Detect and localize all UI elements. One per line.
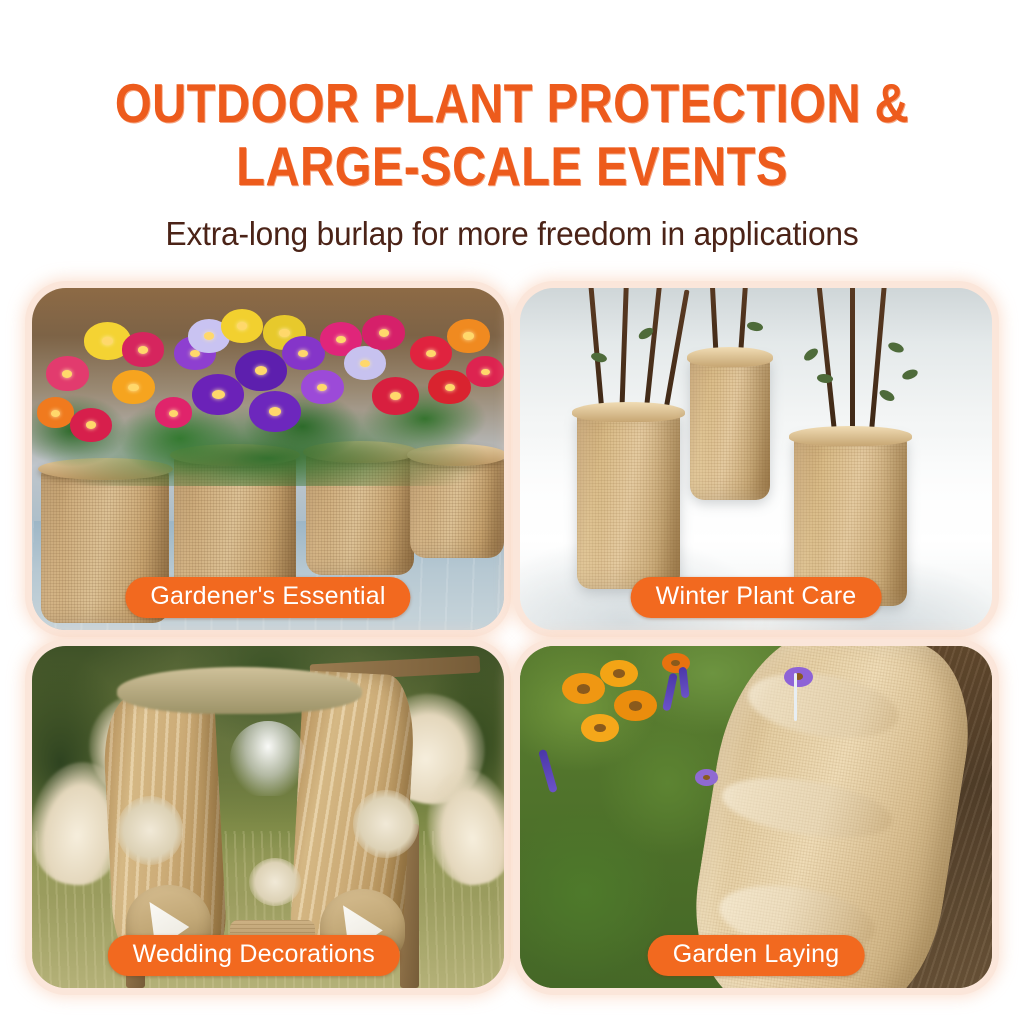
table-bouquet (249, 858, 301, 906)
fabric-fold (718, 768, 896, 848)
panel-badge-gardeners-essential[interactable]: Gardener's Essential (125, 577, 410, 618)
page-title-line-2: LARGE-SCALE EVENTS (72, 135, 953, 198)
page-title-line-1: OUTDOOR PLANT PROTECTION & (72, 72, 953, 135)
product-infographic: OUTDOOR PLANT PROTECTION & LARGE-SCALE E… (0, 0, 1024, 1024)
pansy-bloom (37, 397, 75, 428)
pansy-bloom (372, 377, 419, 415)
pansy-bloom (344, 346, 386, 380)
sapling-branch (850, 288, 855, 438)
pansy-bloom (46, 356, 88, 390)
panel-garden-laying[interactable]: Garden Laying (520, 646, 992, 988)
page-subtitle: Extra-long burlap for more freedom in ap… (20, 215, 1003, 253)
pansy-bloom (447, 319, 489, 353)
pansy-bloom (466, 356, 504, 387)
calendula-flower (562, 673, 604, 704)
pansy-bloom (221, 309, 263, 343)
pansy-bloom (70, 408, 112, 442)
panel-badge-winter-plant-care[interactable]: Winter Plant Care (631, 577, 882, 618)
dried-bouquet (117, 796, 183, 864)
pansy-bloom (112, 370, 154, 404)
burlap-sack (690, 356, 770, 500)
burlap-sack (577, 411, 681, 589)
pansy-bloom (282, 336, 324, 370)
dried-floral-garland (117, 667, 362, 715)
panel-gardeners-essential[interactable]: Gardener's Essential (32, 288, 504, 630)
pansy-bloom (362, 315, 404, 349)
crystal-chandelier (230, 721, 306, 796)
calendula-flower (614, 690, 656, 721)
panel-winter-plant-care[interactable]: Winter Plant Care (520, 288, 992, 630)
panel-badge-wedding-decorations[interactable]: Wedding Decorations (108, 935, 400, 976)
pansy-bloom (122, 332, 164, 366)
pansy-bloom (410, 336, 452, 370)
pansy-bloom (428, 370, 470, 404)
pansy-bloom (301, 370, 343, 404)
panel-wedding-decorations[interactable]: Wedding Decorations (32, 646, 504, 988)
fabric-fold (743, 664, 903, 748)
header: OUTDOOR PLANT PROTECTION & LARGE-SCALE E… (0, 0, 1024, 253)
calendula-flower (600, 660, 638, 687)
panel-badge-garden-laying[interactable]: Garden Laying (648, 935, 865, 976)
calendula-flower (581, 714, 619, 741)
pansy-bloom (155, 397, 193, 428)
pansy-bloom (249, 391, 301, 432)
pansy-bloom (235, 350, 287, 391)
dried-bouquet (353, 790, 419, 858)
aster-flower (784, 667, 812, 688)
feature-grid: Gardener's Essential (32, 288, 992, 992)
plant-stake (794, 673, 797, 721)
